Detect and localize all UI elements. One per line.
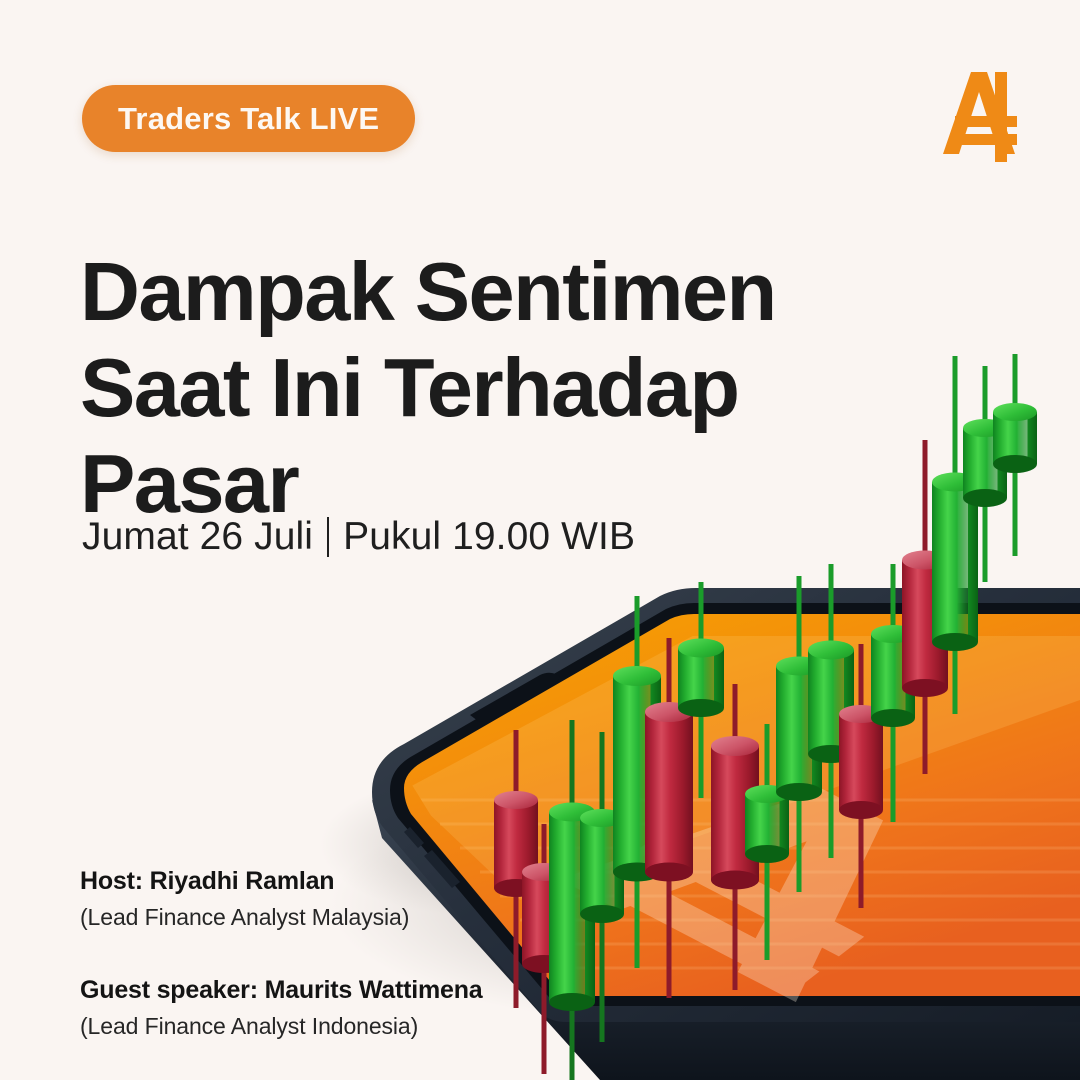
schedule-time: Pukul 19.00 WIB	[343, 515, 635, 559]
candle-bullish	[808, 564, 854, 858]
candle-bearish	[902, 440, 948, 774]
credit-host-role: (Lead Finance Analyst Malaysia)	[80, 903, 600, 933]
live-badge-label: Traders Talk LIVE	[118, 101, 379, 137]
headline-line-1: Dampak Sentimen	[80, 244, 840, 340]
candle-bullish	[745, 724, 789, 960]
candle-bullish	[932, 356, 978, 714]
credit-guest-role: (Lead Finance Analyst Indonesia)	[80, 1012, 600, 1042]
credits-block: Host: Riyadhi Ramlan (Lead Finance Analy…	[80, 866, 600, 1042]
candle-bullish	[871, 564, 915, 822]
page-title: Dampak Sentimen Saat Ini Terhadap Pasar	[80, 244, 840, 533]
poster-canvas: Traders Talk LIVE Dampak Sentimen Saat I…	[0, 0, 1080, 1080]
schedule-date: Jumat 26 Juli	[82, 515, 313, 559]
credit-guest: Guest speaker: Maurits Wattimena (Lead F…	[80, 975, 600, 1042]
headline-line-2: Saat Ini Terhadap	[80, 340, 840, 436]
candle-bullish	[613, 596, 661, 968]
live-badge[interactable]: Traders Talk LIVE	[82, 85, 415, 152]
candle-bullish	[993, 354, 1037, 556]
brand-a-logo-icon	[925, 58, 1035, 168]
candle-bullish	[963, 366, 1007, 582]
credit-host-name: Host: Riyadhi Ramlan	[80, 866, 600, 897]
schedule-separator	[327, 517, 329, 557]
credit-guest-name: Guest speaker: Maurits Wattimena	[80, 975, 600, 1006]
credit-host: Host: Riyadhi Ramlan (Lead Finance Analy…	[80, 866, 600, 933]
candle-bearish	[711, 684, 759, 990]
candle-bullish	[776, 576, 822, 892]
schedule-line: Jumat 26 Juli Pukul 19.00 WIB	[82, 515, 635, 559]
candle-bullish	[678, 582, 724, 798]
candle-bearish	[645, 638, 693, 998]
candle-bearish	[839, 644, 883, 908]
